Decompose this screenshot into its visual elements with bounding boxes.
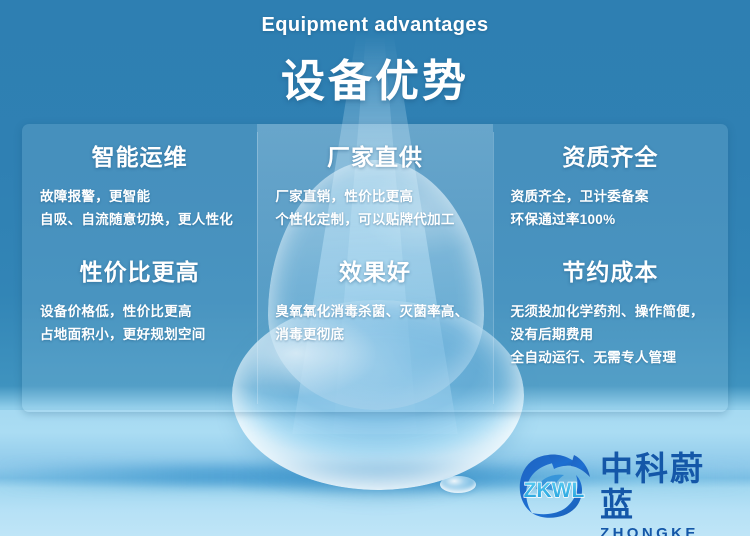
advantage-line: 臭氧氧化消毒杀菌、灭菌率高、 (275, 300, 476, 323)
advantage-line: 无须投加化学药剂、操作简便， (511, 300, 712, 323)
advantage-line: 消毒更彻底 (275, 323, 476, 346)
advantage-line: 故障报警，更智能 (40, 185, 241, 208)
advantage-block: 厂家直供 厂家直销，性价比更高 个性化定制，可以贴牌代加工 (257, 138, 492, 231)
advantage-title: 资质齐全 (509, 138, 712, 172)
poster-canvas: Equipment advantages 设备优势 智能运维 故障报警，更智能 … (0, 0, 750, 536)
advantage-column-left: 智能运维 故障报警，更智能 自吸、自流随意切换，更人性化 性价比更高 设备价格低… (22, 124, 257, 412)
advantage-block: 节约成本 无须投加化学药剂、操作简便， 没有后期费用 全自动运行、无需专人管理 (493, 253, 728, 369)
advantage-line: 占地面积小，更好规划空间 (40, 323, 241, 346)
advantage-line: 个性化定制，可以贴牌代加工 (275, 208, 476, 231)
advantage-title: 智能运维 (38, 138, 241, 172)
advantage-lines: 臭氧氧化消毒杀菌、灭菌率高、 消毒更彻底 (273, 300, 476, 346)
logo-name-en: ZHONGKE WEILAN (600, 525, 738, 536)
advantage-line: 全自动运行、无需专人管理 (511, 346, 712, 369)
advantage-block: 智能运维 故障报警，更智能 自吸、自流随意切换，更人性化 (22, 138, 257, 231)
advantage-line: 资质齐全，卫计委备案 (511, 185, 712, 208)
advantage-block: 效果好 臭氧氧化消毒杀菌、灭菌率高、 消毒更彻底 (257, 253, 492, 346)
page-title: Equipment advantages 设备优势 (0, 14, 750, 109)
advantage-line: 自吸、自流随意切换，更人性化 (40, 208, 241, 231)
advantage-lines: 设备价格低，性价比更高 占地面积小，更好规划空间 (38, 300, 241, 346)
logo-wordmark: 中科蔚蓝 ZHONGKE WEILAN (600, 451, 738, 536)
advantage-block: 资质齐全 资质齐全，卫计委备案 环保通过率100% (493, 138, 728, 231)
advantage-title: 效果好 (273, 253, 476, 287)
advantage-line: 环保通过率100% (511, 208, 712, 231)
advantage-title: 厂家直供 (273, 138, 476, 172)
advantage-lines: 无须投加化学药剂、操作简便， 没有后期费用 全自动运行、无需专人管理 (509, 300, 712, 369)
advantage-lines: 故障报警，更智能 自吸、自流随意切换，更人性化 (38, 185, 241, 231)
advantage-line: 厂家直销，性价比更高 (275, 185, 476, 208)
advantage-line: 没有后期费用 (511, 323, 712, 346)
small-water-droplet (440, 476, 476, 493)
advantage-column-middle: 厂家直供 厂家直销，性价比更高 个性化定制，可以贴牌代加工 效果好 臭氧氧化消毒… (257, 124, 492, 412)
logo-name-cn: 中科蔚蓝 (600, 451, 738, 523)
title-english: Equipment advantages (0, 14, 750, 37)
advantage-lines: 厂家直销，性价比更高 个性化定制，可以贴牌代加工 (273, 185, 476, 231)
advantage-block: 性价比更高 设备价格低，性价比更高 占地面积小，更好规划空间 (22, 253, 257, 346)
advantage-line: 设备价格低，性价比更高 (40, 300, 241, 323)
advantage-title: 节约成本 (509, 253, 712, 287)
advantage-title: 性价比更高 (38, 253, 241, 287)
logo-mark-text: ZKWL (524, 479, 585, 502)
title-chinese: 设备优势 (0, 45, 750, 109)
company-logo: ZKWL 中科蔚蓝 ZHONGKE WEILAN (514, 447, 738, 525)
advantage-lines: 资质齐全，卫计委备案 环保通过率100% (509, 185, 712, 231)
dolphin-swirl-icon: ZKWL (514, 449, 592, 523)
advantage-column-right: 资质齐全 资质齐全，卫计委备案 环保通过率100% 节约成本 无须投加化学药剂、… (493, 124, 728, 412)
advantages-panel: 智能运维 故障报警，更智能 自吸、自流随意切换，更人性化 性价比更高 设备价格低… (22, 124, 728, 412)
